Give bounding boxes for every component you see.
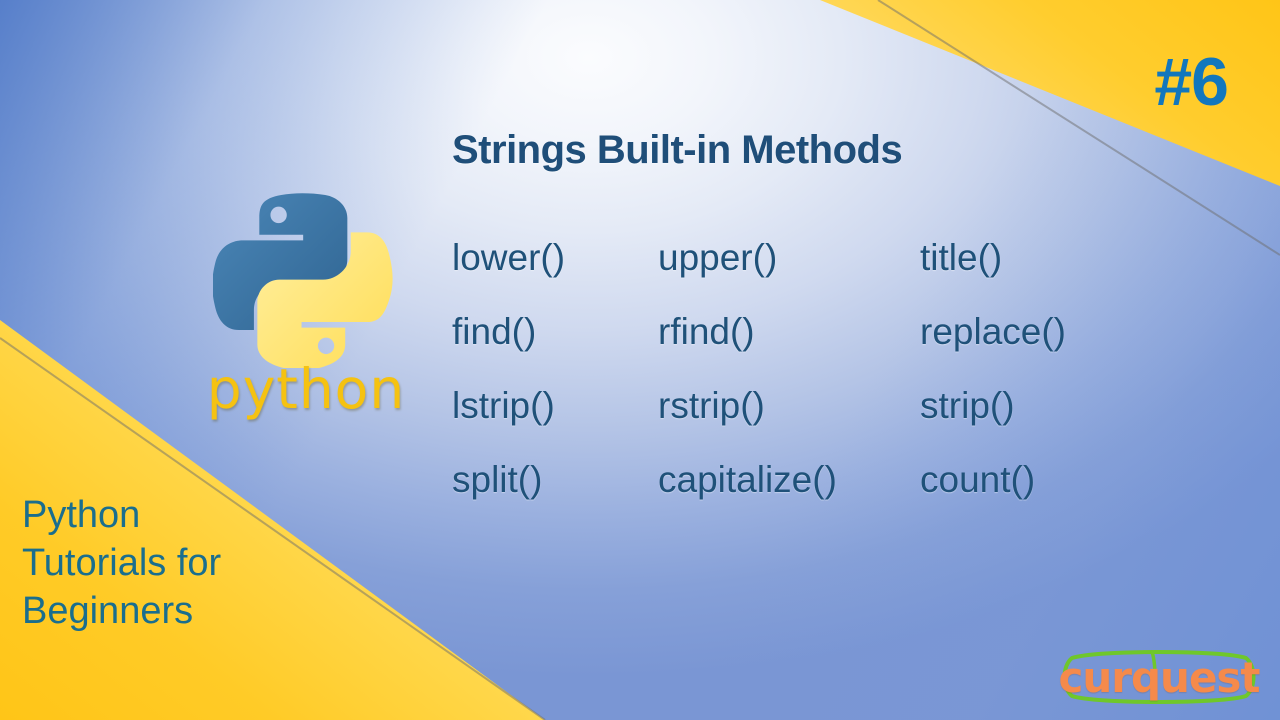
method-item: title() (920, 239, 1066, 276)
python-wordmark: python (190, 362, 422, 417)
method-item: rfind() (658, 313, 920, 350)
series-title-line-3: Beginners (22, 588, 352, 636)
method-item: replace() (920, 313, 1066, 350)
slide-canvas: #6 python Strings Built-in Methods lower… (0, 0, 1280, 720)
series-title: Python Tutorials for Beginners (22, 492, 352, 636)
brand-name: curquest (1056, 644, 1262, 710)
brand-logo: curquest (1056, 644, 1262, 710)
method-item: upper() (658, 239, 920, 276)
method-item: strip() (920, 387, 1066, 424)
method-item: count() (920, 461, 1066, 498)
method-item: capitalize() (658, 461, 920, 498)
python-logo-icon (213, 188, 393, 368)
series-title-line-2: Tutorials for (22, 540, 352, 588)
method-item: split() (452, 461, 658, 498)
methods-grid: lower() upper() title() find() rfind() r… (452, 220, 1066, 516)
method-item: rstrip() (658, 387, 920, 424)
method-item: lower() (452, 239, 658, 276)
series-title-line-1: Python (22, 492, 352, 540)
method-item: lstrip() (452, 387, 658, 424)
page-title: Strings Built-in Methods (452, 128, 902, 173)
method-item: find() (452, 313, 658, 350)
episode-number-badge: #6 (1154, 48, 1228, 116)
